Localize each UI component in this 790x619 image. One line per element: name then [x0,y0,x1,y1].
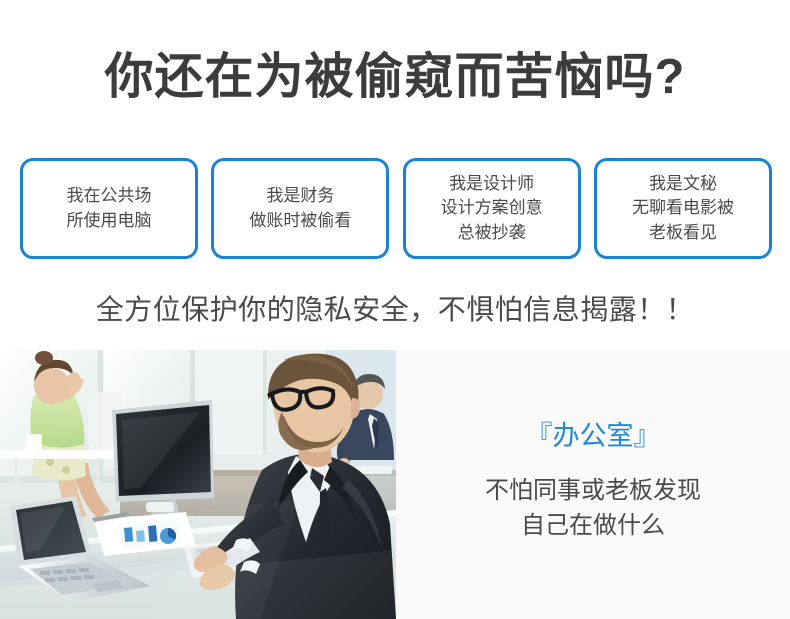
pain-point-line: 总被抄袭 [458,221,526,245]
pain-point-line: 做账时被偷看 [249,209,351,233]
scene-caption-line: 不怕同事或老板发现 [485,474,701,509]
pain-point-card-finance[interactable]: 我是财务 做账时被偷看 [211,158,389,259]
scene-section: 『办公室』 不怕同事或老板发现 自己在做什么 [0,350,790,619]
pain-point-line: 老板看见 [649,221,717,245]
scene-caption-line: 自己在做什么 [521,509,665,544]
pain-point-card-public-place[interactable]: 我在公共场 所使用电脑 [20,158,198,259]
page-title: 你还在为被偷窥而苦恼吗? [0,48,790,107]
pain-point-line: 我在公共场 [67,184,152,208]
pain-point-card-designer[interactable]: 我是设计师 设计方案创意 总被抄袭 [403,158,581,259]
page-subtitle: 全方位保护你的隐私安全，不惧怕信息揭露！！ [0,288,790,328]
pain-point-line: 我是财务 [266,184,334,208]
pain-point-line: 设计方案创意 [441,196,543,220]
pain-point-line: 我是设计师 [449,172,534,196]
pain-point-line: 所使用电脑 [67,209,152,233]
pain-point-row: 我在公共场 所使用电脑 我是财务 做账时被偷看 我是设计师 设计方案创意 总被抄… [20,158,772,259]
office-scene-photo [0,350,396,619]
scene-caption-title: 『办公室』 [526,420,661,452]
pain-point-line: 无聊看电影被 [632,196,734,220]
scene-caption-panel: 『办公室』 不怕同事或老板发现 自己在做什么 [396,350,790,619]
product-detail-page: 你还在为被偷窥而苦恼吗? 我在公共场 所使用电脑 我是财务 做账时被偷看 我是设… [0,0,790,619]
pain-point-line: 我是文秘 [649,172,717,196]
pain-point-card-secretary[interactable]: 我是文秘 无聊看电影被 老板看见 [594,158,772,259]
